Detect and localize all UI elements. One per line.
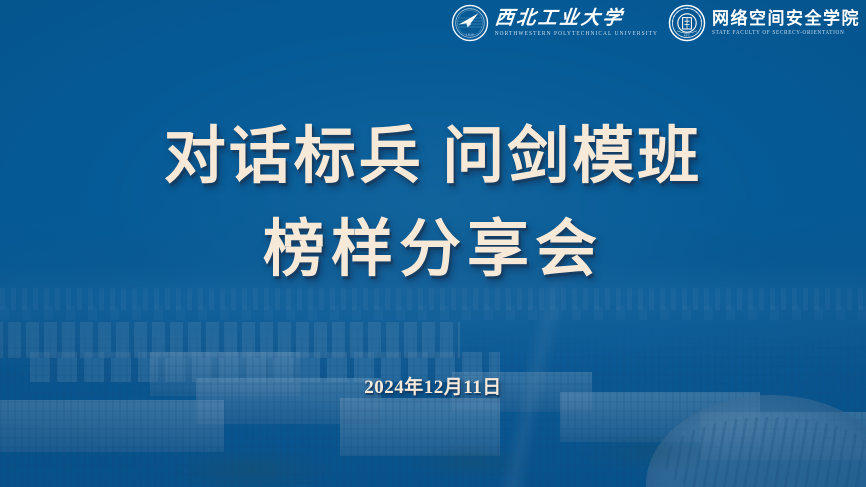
cyberspace-school-wordmark: 网络空间安全学院 STATE FACULTY OF SECRECY-ORIENT… <box>712 10 860 36</box>
cyberspace-school-seal-emblem-icon: NPU <box>668 4 706 42</box>
npu-name-en: NORTHWESTERN POLYTECHNICAL UNIVERSITY <box>495 31 658 37</box>
svg-text:1938: 1938 <box>465 33 474 37</box>
svg-text:NPU: NPU <box>684 34 691 37</box>
background-stadium <box>646 395 866 487</box>
cyberspace-school-name-cn: 网络空间安全学院 <box>712 10 860 27</box>
presentation-slide: 1938 西北工业大学 NORTHWESTERN POLYTECHNICAL U… <box>0 0 866 487</box>
cyberspace-school-logo: NPU 网络空间安全学院 STATE FACULTY OF SECRECY-OR… <box>668 4 860 42</box>
event-date: 2024年12月11日 <box>0 372 866 399</box>
npu-wordmark: 西北工业大学 NORTHWESTERN POLYTECHNICAL UNIVER… <box>495 9 658 37</box>
cyberspace-school-name-en: STATE FACULTY OF SECRECY-ORIENTATION <box>712 31 860 37</box>
header-logo-bar: 1938 西北工业大学 NORTHWESTERN POLYTECHNICAL U… <box>451 4 860 42</box>
npu-name-cn: 西北工业大学 <box>494 9 659 28</box>
page-title-line-1: 对话标兵 问剑模班 <box>0 118 866 197</box>
page-title-line-2: 榜样分享会 <box>0 211 866 290</box>
npu-logo: 1938 西北工业大学 NORTHWESTERN POLYTECHNICAL U… <box>451 4 658 42</box>
title-block: 对话标兵 问剑模班 榜样分享会 <box>0 118 866 291</box>
npu-seal-emblem-icon: 1938 <box>451 4 489 42</box>
